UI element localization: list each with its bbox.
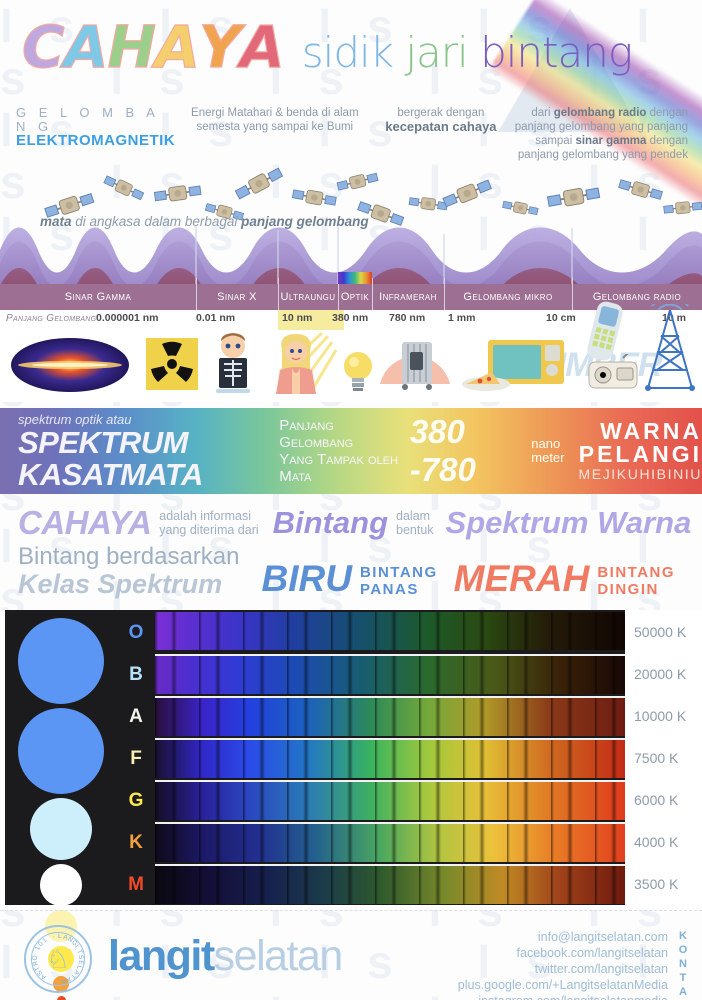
- radio-receiver-icon: [587, 354, 643, 397]
- range-pre: dari: [531, 107, 553, 119]
- seal-char: L: [58, 933, 62, 940]
- note1-line2: yang diterima dari: [159, 523, 258, 537]
- note2-line2: bentuk: [396, 523, 434, 537]
- statement-biru: BIRU: [261, 560, 351, 598]
- visible-range-value: 380 -780: [410, 413, 523, 489]
- wavelength-label: Panjang Gelombang: [6, 313, 96, 324]
- poster-footer: LANGITSELATAN · ASTRO 101 · ♘ langitsela…: [0, 910, 702, 1000]
- visible-big-label: SPEKTRUM KASATMATA: [18, 427, 279, 491]
- caption-bold-2: panjang gelombang: [241, 214, 369, 229]
- speed-line1: bergerak dengan: [382, 106, 501, 120]
- seal-char: ·: [52, 933, 56, 940]
- brand-wordmark: langitselatan: [108, 933, 342, 979]
- em-label-line2: ELEKTROMAGNETIK: [16, 134, 168, 148]
- contact-list: info@langitselatan.comfacebook.com/langi…: [458, 929, 668, 1000]
- subtitle-word-1: sidik: [302, 28, 393, 77]
- band-segment-optik: Optik: [338, 284, 372, 310]
- seal-char: ·: [53, 978, 56, 985]
- statement-note-1: adalah informasi yang diterima dari: [159, 509, 258, 537]
- kontak-letter: K: [676, 929, 690, 943]
- dingin-line2: DINGIN: [597, 581, 675, 598]
- poster-header: CAHAYA sidik jari bintang: [0, 0, 702, 100]
- radiator-heater-icon: [376, 332, 454, 401]
- caption-mid: di angkasa dalam berbagai: [72, 214, 242, 229]
- note2-line1: dalam: [396, 509, 434, 523]
- temperature-label-M: 3500 K: [634, 876, 678, 892]
- statement-bintang-berdasarkan: Bintang berdasarkan: [18, 544, 239, 570]
- temperature-label-G: 6000 K: [634, 792, 678, 808]
- range-bold-gamma: sinar gamma: [575, 135, 646, 147]
- page-title: CAHAYA: [22, 18, 284, 76]
- wavelength-value: 10 nm: [282, 312, 312, 324]
- spectrum-strip-K: [155, 822, 625, 862]
- statement-block: CAHAYA adalah informasi yang diterima da…: [0, 494, 702, 604]
- visible-range-unit: nano meter: [531, 437, 564, 465]
- title-letter-1: A: [64, 18, 108, 76]
- intro-col-energy: Energi Matahari & benda di alam semesta …: [176, 106, 374, 162]
- temperature-label-K: 4000 K: [634, 834, 678, 850]
- seal-horse-icon: ♘: [46, 946, 69, 972]
- statement-row-2: Bintang berdasarkan Kelas Spektrum BIRU …: [0, 544, 702, 598]
- contact-link[interactable]: facebook.com/langitselatan: [458, 945, 668, 961]
- subtitle-word-3: bintang: [480, 28, 632, 77]
- wavelength-value: 780 nm: [389, 312, 425, 324]
- langitselatan-seal-icon: LANGITSELATAN · ASTRO 101 · ♘: [24, 925, 92, 993]
- unit-line2: meter: [531, 451, 564, 465]
- gamma-sky-map-icon: [10, 336, 130, 399]
- wavelength-value: 0.01 nm: [196, 312, 235, 324]
- star-circle-B: [18, 708, 104, 794]
- seal-char: O: [32, 955, 39, 960]
- spectrum-strip-A: [155, 696, 625, 736]
- visible-small-label: spektrum optik atau: [18, 412, 279, 427]
- star-size-column: [5, 610, 117, 905]
- satellite-icon: [153, 179, 204, 212]
- statement-row-1: CAHAYA adalah informasi yang diterima da…: [0, 504, 702, 542]
- contact-link[interactable]: twitter.com/langitselatan: [458, 961, 668, 977]
- wavelength-value: 1 mm: [448, 312, 475, 324]
- seal-char: S: [77, 954, 85, 959]
- statement-merah: MERAH: [454, 560, 590, 598]
- star-circle-A: [30, 798, 92, 860]
- band-segment-inframerah: Inframerah: [372, 284, 444, 310]
- title-letter-0: C: [22, 18, 64, 76]
- spectra-strip-area: [155, 610, 625, 905]
- title-letter-5: A: [240, 18, 284, 76]
- title-row: CAHAYA sidik jari bintang: [0, 0, 702, 77]
- stellar-spectra-chart: OBAFGKM 50000 K20000 K10000 K7500 K6000 …: [0, 610, 702, 910]
- sunbathing-woman-icon: [266, 330, 342, 401]
- satellite-icon: [615, 173, 665, 209]
- band-divider: [372, 278, 373, 310]
- statement-bintang-dingin: BINTANG DINGIN: [597, 564, 675, 598]
- temperature-label-A: 10000 K: [634, 708, 686, 724]
- statement-note-2: dalam bentuk: [396, 509, 434, 537]
- panas-line2: PANAS: [360, 581, 438, 598]
- brand-light: selatan: [214, 932, 342, 980]
- statement-bintang-panas: BINTANG PANAS: [360, 564, 438, 598]
- speed-line2: kecepatan cahaya: [382, 120, 501, 134]
- class-label-B: B: [122, 664, 150, 686]
- satellite-icon: [99, 170, 147, 209]
- satellite-icon: [335, 167, 381, 200]
- band-segment-gelombang-mikro: Gelombang mikro: [444, 284, 572, 310]
- class-label-O: O: [122, 622, 150, 644]
- contact-link[interactable]: info@langitselatan.com: [458, 929, 668, 945]
- warna-line: WARNA: [579, 420, 702, 443]
- rainbow-color-label: WARNA PELANGI MEJIKUHIBINIU: [579, 420, 702, 482]
- visible-desc-line2: Yang Tampak oleh Mata: [279, 451, 410, 485]
- kontak-letter: T: [676, 971, 690, 985]
- class-label-G: G: [122, 790, 150, 812]
- class-label-F: F: [122, 748, 150, 770]
- visible-wavelength-desc: Panjang Gelombang Yang Tampak oleh Mata: [279, 417, 410, 485]
- dingin-line1: BINTANG: [597, 564, 675, 581]
- title-letter-4: Y: [199, 18, 240, 76]
- kontak-vertical-label: KONTAK: [676, 929, 690, 1000]
- em-label-line1: G E L O M B A N G: [16, 106, 168, 134]
- satellite-icon: [662, 197, 702, 223]
- band-segment-sinar-gamma: Sinar Gamma: [0, 284, 196, 310]
- wavelength-value: 10 cm: [546, 312, 576, 324]
- intro-col-speed: bergerak dengan kecepatan cahaya: [382, 106, 501, 162]
- visible-spectrum-title: spektrum optik atau SPEKTRUM KASATMATA: [0, 412, 279, 491]
- caption-bold-1: mata: [40, 214, 72, 229]
- star-circle-F: [40, 864, 82, 906]
- statement-kelas-spektrum: Kelas Spektrum: [18, 570, 239, 598]
- note1-line1: adalah informasi: [159, 509, 258, 523]
- statement-kelas-group: Bintang berdasarkan Kelas Spektrum: [18, 544, 239, 598]
- satellite-caption: mata di angkasa dalam berbagai panjang g…: [40, 214, 369, 229]
- mejikuhibiniu-line: MEJIKUHIBINIU: [579, 466, 702, 482]
- visible-spectrum-banner: spektrum optik atau SPEKTRUM KASATMATA P…: [0, 408, 702, 494]
- kontak-letter: N: [676, 957, 690, 971]
- spectrum-strip-B: [155, 654, 625, 694]
- satellite-icon: [500, 196, 540, 223]
- spectrum-strip-G: [155, 780, 625, 820]
- radio-tower-icon: [640, 304, 700, 401]
- light-bulb-icon: [341, 348, 375, 397]
- brand-bold: langit: [108, 932, 214, 980]
- wavelength-value: 0.000001 nm: [96, 312, 158, 324]
- temperature-label-B: 20000 K: [634, 666, 686, 682]
- unit-line1: nano: [531, 437, 564, 451]
- radiation-hazard-icon: [146, 338, 198, 395]
- panas-line1: BINTANG: [360, 564, 438, 581]
- temperature-label-O: 50000 K: [634, 624, 686, 640]
- satellite-icon: [439, 173, 496, 218]
- intro-columns: G E L O M B A N G ELEKTROMAGNETIK Energi…: [0, 100, 702, 162]
- microwave-pizza-icon: [462, 338, 566, 399]
- source-icons-row: SUMBER: [0, 330, 702, 402]
- xray-person-icon: [208, 332, 258, 401]
- satellite-icon: [545, 180, 603, 218]
- spectrum-strip-F: [155, 738, 625, 778]
- page-subtitle: sidik jari bintang: [302, 28, 632, 77]
- pelangi-line: PELANGI: [579, 443, 702, 466]
- class-label-M: M: [122, 874, 150, 896]
- contact-link[interactable]: instagram.com/langitselatanmedia: [458, 993, 668, 1000]
- class-label-A: A: [122, 706, 150, 728]
- band-divider: [278, 278, 279, 310]
- infographic-poster: ls ls ls ls ls ls ls ls ls ls ls ls ls l…: [0, 0, 702, 1000]
- statement-spektrum-warna: Spektrum Warna: [446, 505, 692, 541]
- spectrum-strip-O: [155, 612, 625, 650]
- satellite-wave-zone: mata di angkasa dalam berbagai panjang g…: [0, 164, 702, 284]
- intro-col-range: dari gelombang radio dengan panjang gelo…: [508, 106, 688, 162]
- spectrum-strip-M: [155, 864, 625, 904]
- title-letter-3: A: [155, 18, 199, 76]
- visible-desc-line1: Panjang Gelombang: [279, 417, 410, 451]
- satellite-icon: [231, 161, 289, 209]
- contact-link[interactable]: plus.google.com/+LangitselatanMedia: [458, 977, 668, 993]
- range-bold-radio: gelombang radio: [554, 107, 647, 119]
- temperature-label-F: 7500 K: [634, 750, 678, 766]
- subtitle-word-2: jari: [405, 28, 467, 77]
- band-segment-ultraungu: Ultraungu: [278, 284, 338, 310]
- star-circle-O: [18, 618, 104, 704]
- band-segment-sinar-x: Sinar X: [196, 284, 278, 310]
- band-divider: [196, 278, 197, 310]
- class-label-K: K: [122, 832, 150, 854]
- band-divider: [572, 278, 573, 310]
- satellite-icon: [290, 183, 338, 215]
- band-divider: [444, 278, 445, 310]
- wavelength-value: 380 nm: [332, 312, 368, 324]
- mini-rainbow-icon: [338, 272, 372, 284]
- kontak-letter: A: [676, 985, 690, 999]
- intro-col-electromagnetic: G E L O M B A N G ELEKTROMAGNETIK: [16, 106, 168, 162]
- kontak-letter: O: [676, 943, 690, 957]
- statement-cahaya: CAHAYA: [18, 504, 151, 542]
- statement-bintang: Bintang: [273, 505, 388, 541]
- title-letter-2: H: [107, 18, 155, 76]
